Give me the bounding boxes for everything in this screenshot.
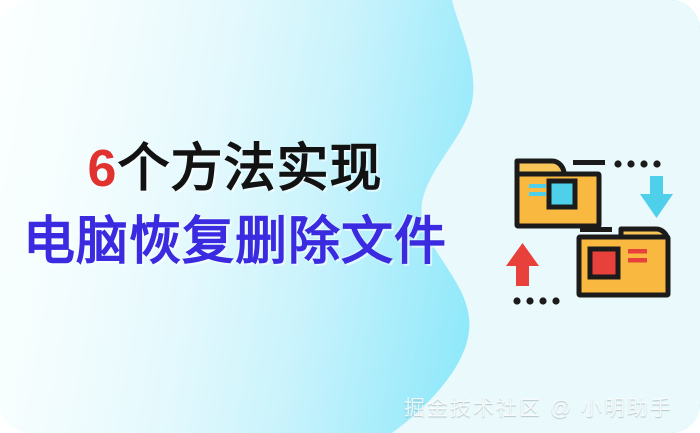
arrow-down-icon (640, 176, 673, 218)
arrow-up-icon (506, 243, 539, 286)
dots-top-icon (614, 160, 660, 167)
cover-banner: 6个方法实现 电脑恢复删除文件 (0, 0, 700, 433)
headline-line-1: 6个方法实现 (0, 142, 470, 197)
headline-line-2: 电脑恢复删除文件 (0, 215, 470, 270)
folder-top-icon (517, 160, 605, 226)
headline-line-1-text: 个方法实现 (117, 140, 382, 198)
headline-block: 6个方法实现 电脑恢复删除文件 (0, 142, 470, 270)
dots-bottom-icon (513, 297, 559, 304)
watermark-text: 掘金技术社区 @ 小明助手 (404, 392, 673, 422)
folder-bottom-icon (579, 227, 668, 295)
file-recovery-illustration (495, 136, 695, 336)
headline-number: 6 (88, 140, 118, 198)
